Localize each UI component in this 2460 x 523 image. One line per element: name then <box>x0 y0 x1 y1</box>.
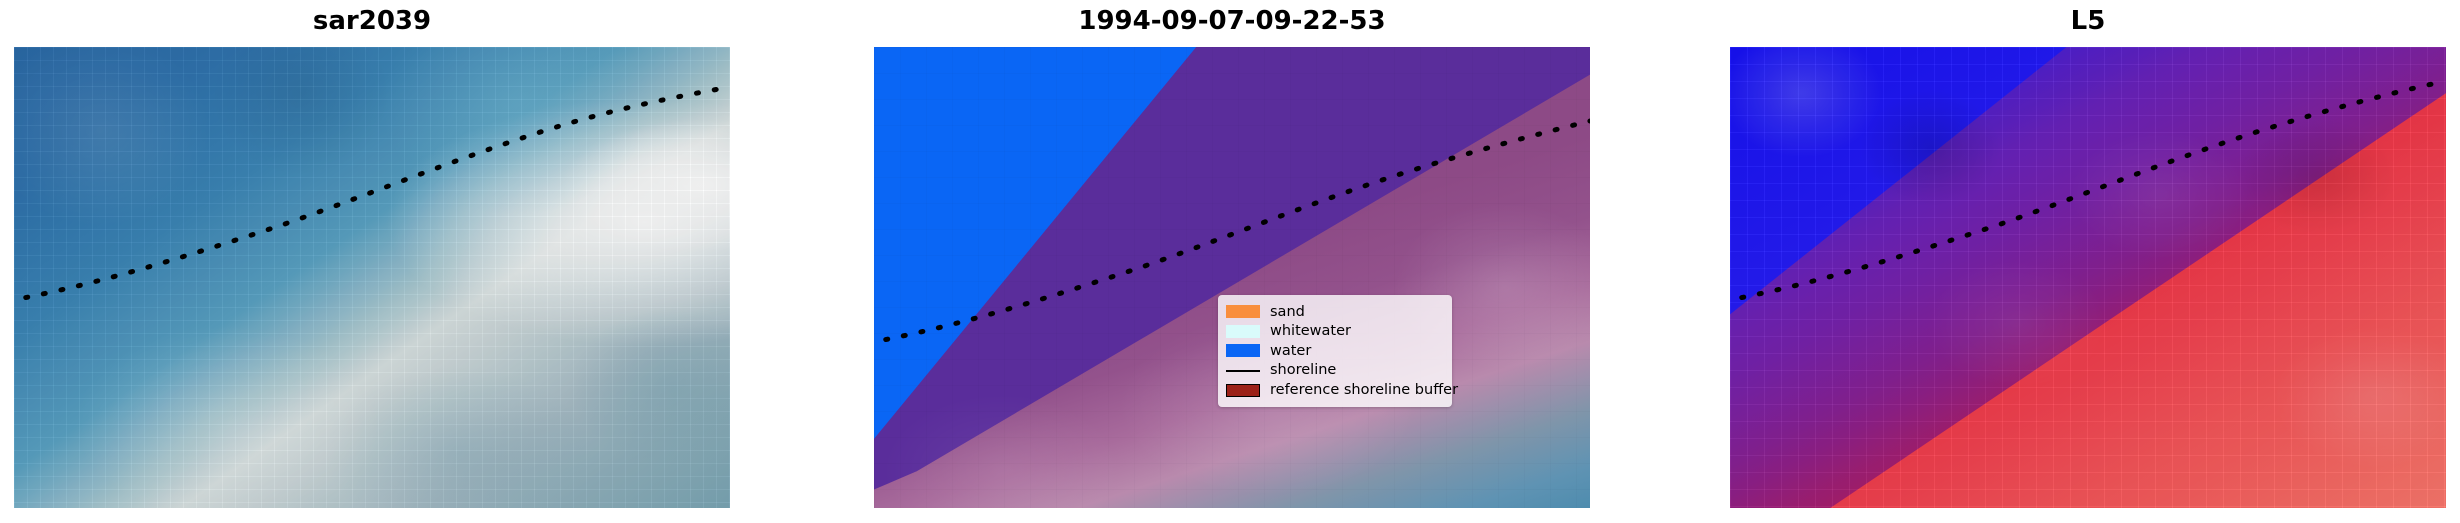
legend-label-water: water <box>1270 344 1311 359</box>
legend-item-water[interactable]: water <box>1226 341 1443 361</box>
legend-label-whitewater: whitewater <box>1270 324 1351 339</box>
reference-shoreline-buffer-swatch-icon <box>1226 384 1260 397</box>
panel-1994-09-07-09-22-53: sand whitewater water <box>874 47 1590 508</box>
panel-1-title: sar2039 <box>14 6 730 36</box>
legend-item-shoreline[interactable]: shoreline <box>1226 361 1443 381</box>
figure-canvas: sar2039 sand <box>0 0 2460 523</box>
panel-2-title: 1994-09-07-09-22-53 <box>874 6 1590 36</box>
panel-1-image <box>14 47 730 508</box>
shoreline-line-icon <box>1226 370 1260 372</box>
legend-label-sand: sand <box>1270 305 1305 320</box>
panel-sar2039 <box>14 47 730 508</box>
legend-key-shoreline <box>1226 364 1260 377</box>
panel-2-pixel-grid <box>874 47 1590 508</box>
legend-key-whitewater <box>1226 325 1260 338</box>
panel-1-pixel-grid <box>14 47 730 508</box>
legend-label-shoreline: shoreline <box>1270 363 1336 378</box>
panel-3-pixel-grid <box>1730 47 2446 508</box>
legend-key-reference-shoreline-buffer <box>1226 384 1260 397</box>
legend-item-sand[interactable]: sand <box>1226 302 1443 322</box>
legend-key-water <box>1226 344 1260 357</box>
panel-3-image <box>1730 47 2446 508</box>
panel-3-title: L5 <box>1730 6 2446 36</box>
panel-2-image: sand whitewater water <box>874 47 1590 508</box>
legend-box[interactable]: sand whitewater water <box>1218 295 1452 407</box>
panel-l5 <box>1730 47 2446 508</box>
sand-swatch-icon <box>1226 305 1260 318</box>
legend-item-whitewater[interactable]: whitewater <box>1226 322 1443 342</box>
legend-item-reference-shoreline-buffer[interactable]: reference shoreline buffer <box>1226 380 1443 400</box>
legend-key-sand <box>1226 305 1260 318</box>
water-swatch-icon <box>1226 344 1260 357</box>
legend-label-reference-shoreline-buffer: reference shoreline buffer <box>1270 383 1458 398</box>
whitewater-swatch-icon <box>1226 325 1260 338</box>
